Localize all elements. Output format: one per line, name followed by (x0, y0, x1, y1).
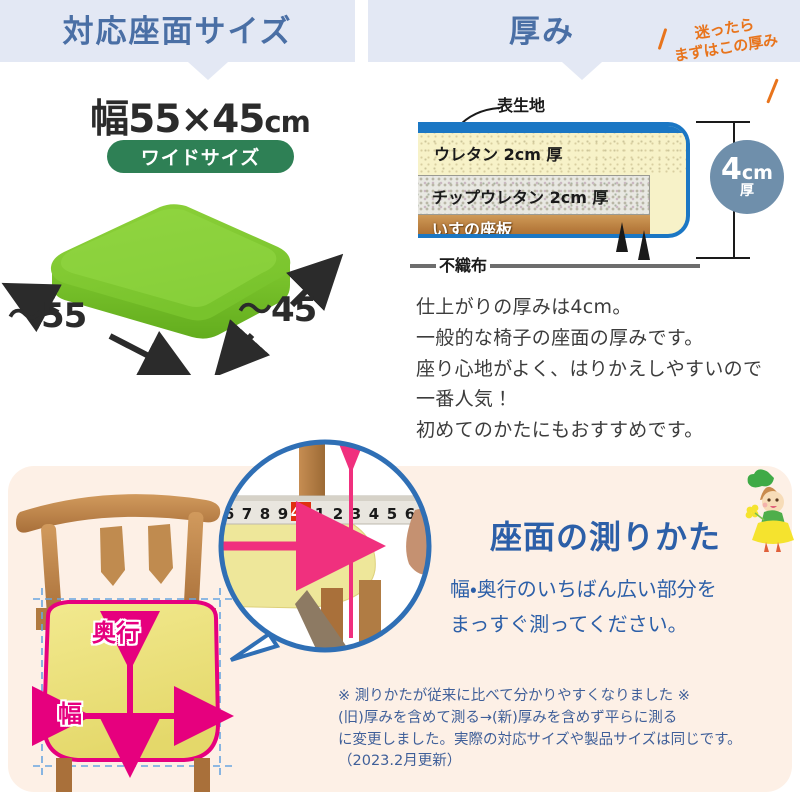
measurement-change-note: ※ 測りかたが従来に比べて分かりやすくなりました ※ (旧)厚みを含めて測る→(… (338, 686, 798, 773)
measure-guide-title: 座面の測りかた (490, 512, 721, 558)
infographic-root: 対応座面サイズ 厚み 迷ったら まずはこの厚み 幅55×45cm ワイドサイズ (0, 0, 800, 800)
measure-guide-body: 幅・奥行のいちばん広い部分を まっすぐ測ってください。 (450, 572, 790, 642)
description-line: 一番人気！ (416, 384, 796, 415)
svg-text:2: 2 (333, 505, 343, 523)
measure-guide-line: 幅・奥行のいちばん広い部分を (450, 572, 790, 607)
svg-text:5: 5 (206, 505, 216, 523)
description-line: 初めてのかたにもおすすめです。 (416, 415, 796, 446)
dimension-arrows (0, 185, 400, 375)
cross-section-body: ウレタン 2cm 厚 チップウレタン 2cm 厚 いすの座板 (418, 122, 690, 238)
svg-text:4: 4 (369, 505, 379, 523)
measure-guide-line: まっすぐ測ってください。 (450, 607, 790, 642)
size-dimension-title: 幅55×45cm (0, 88, 400, 144)
size-dimension-value: 幅55×45 (90, 97, 264, 142)
thickness-description: 仕上がりの厚みは4cm。 一般的な椅子の座面の厚みです。 座り心地がよく、はりか… (416, 292, 796, 446)
svg-text:1: 1 (315, 505, 325, 523)
header-notch-right (562, 62, 602, 80)
header-panel-size: 対応座面サイズ (0, 0, 355, 62)
svg-text:5: 5 (387, 505, 397, 523)
handwritten-slash-right (766, 78, 779, 103)
seat-width-label: 幅 (58, 694, 82, 729)
description-line: 仕上がりの厚みは4cm。 (416, 292, 796, 323)
urethane-layer-label: ウレタン 2cm 厚 (434, 141, 562, 165)
seat-board-layer-label: いすの座板 (432, 216, 512, 238)
note-line: に変更しました。実際の対応サイズや製品サイズは同じです。 (338, 730, 798, 752)
nonwoven-label: 不織布 (436, 252, 490, 276)
size-dimension-unit: cm (264, 105, 309, 139)
svg-text:40: 40 (291, 504, 312, 522)
width-dimension-label: 〜55 (8, 288, 86, 337)
seat-depth-label: 奥行 (92, 613, 140, 648)
header-notch-left (188, 62, 228, 80)
note-line: (旧)厚みを含めて測る→(新)厚みを含めず平らに測る (338, 708, 798, 730)
description-line: 一般的な椅子の座面の厚みです。 (416, 323, 796, 354)
thickness-badge-kanji: 厚 (740, 185, 754, 198)
magnifier-callout: 567 89 40 123 456 78 (203, 438, 453, 670)
thickness-badge: 4cm 厚 (710, 140, 784, 214)
description-line: 座り心地がよく、はりかえしやすいので (416, 354, 796, 385)
note-line: （2023.2月更新） (338, 751, 798, 773)
svg-text:9: 9 (278, 505, 288, 523)
header-title-size: 対応座面サイズ (0, 6, 355, 51)
svg-text:8: 8 (441, 505, 451, 523)
mascot-icon (742, 466, 800, 556)
surface-fabric-layer (418, 126, 686, 133)
wide-size-badge: ワイドサイズ (107, 140, 294, 173)
thickness-badge-number: 4cm (721, 156, 773, 184)
chip-urethane-layer-label: チップウレタン 2cm 厚 (432, 184, 608, 208)
depth-dimension-label: 〜45 (238, 282, 316, 331)
svg-text:8: 8 (260, 505, 270, 523)
note-line: ※ 測りかたが従来に比べて分かりやすくなりました ※ (338, 686, 798, 708)
svg-text:7: 7 (242, 505, 252, 523)
nonwoven-row: 不織布 (410, 258, 700, 272)
